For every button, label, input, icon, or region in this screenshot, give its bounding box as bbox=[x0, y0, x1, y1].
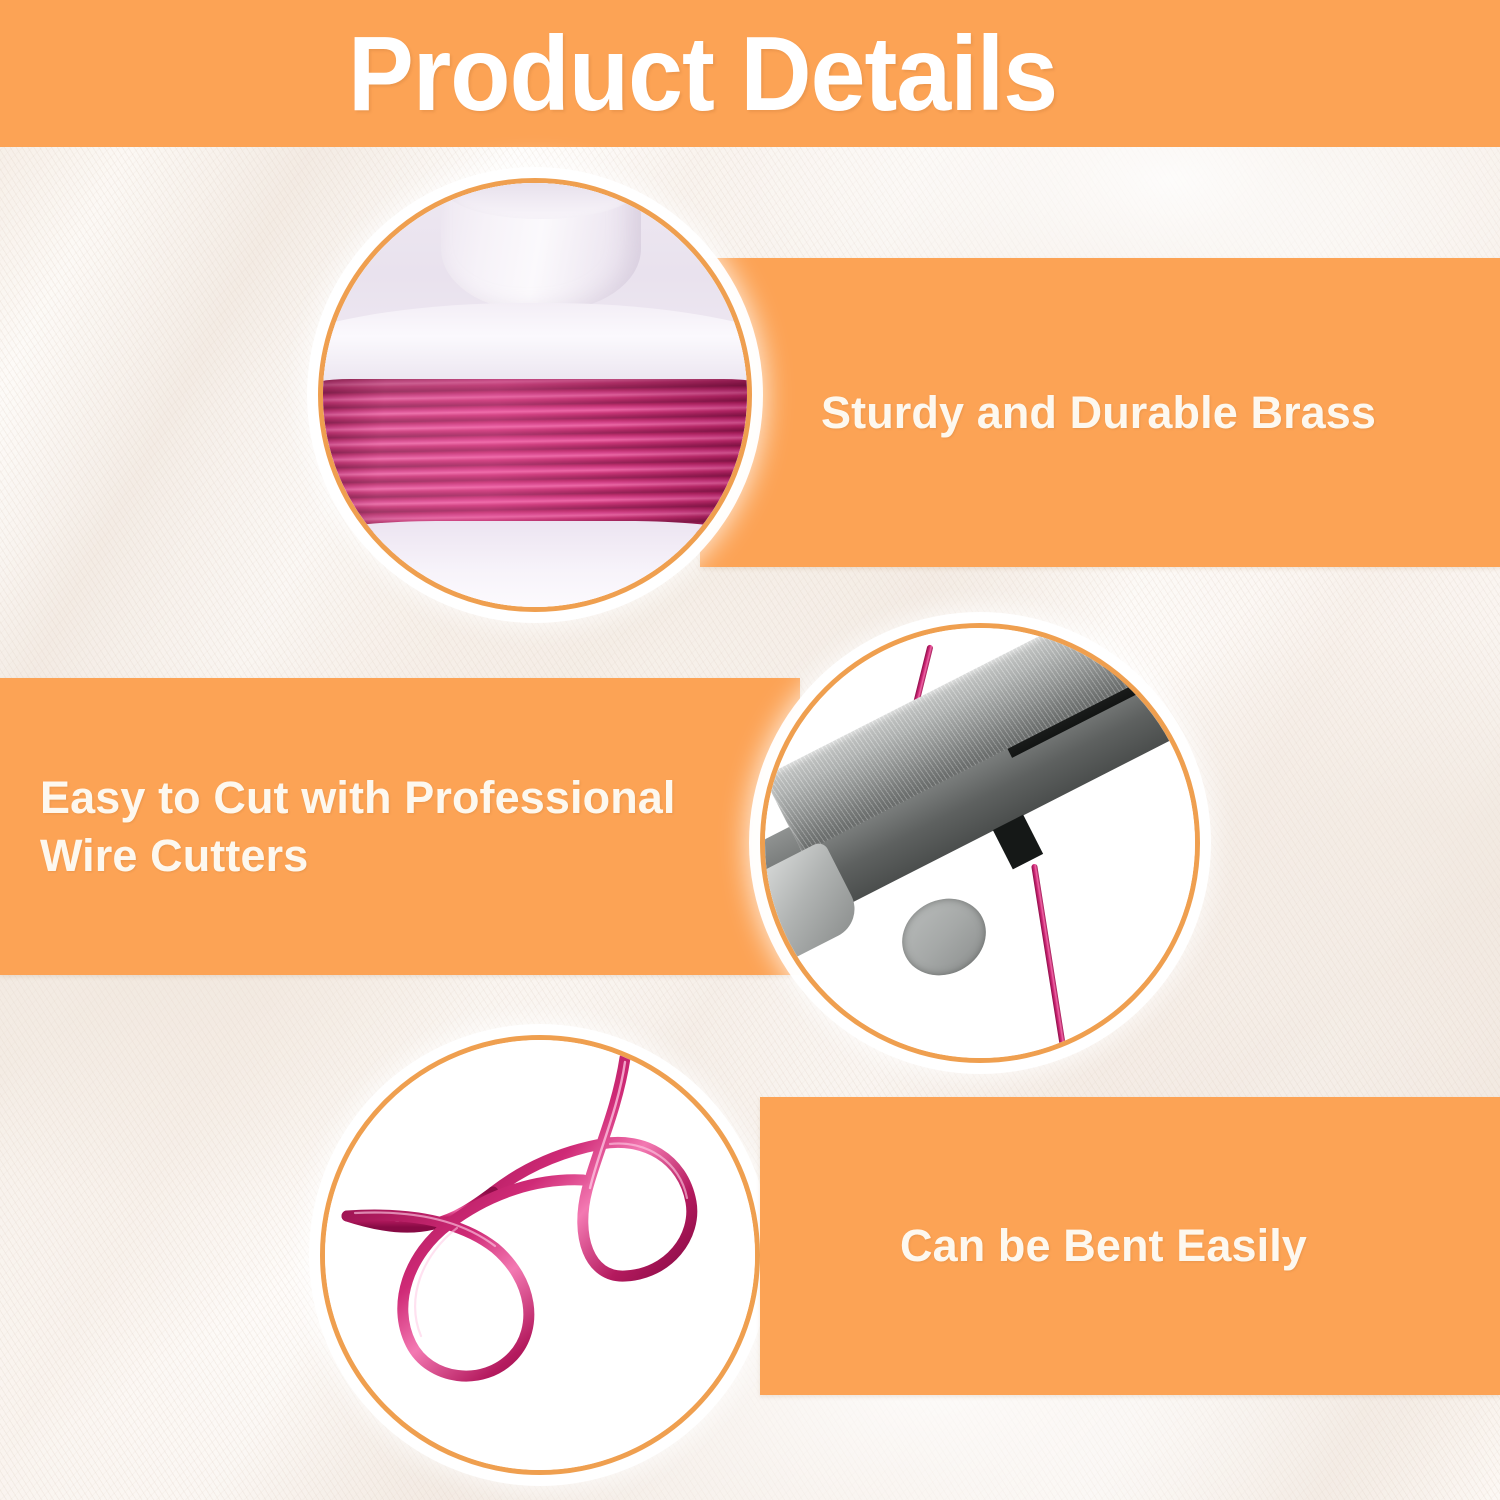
spool-photo bbox=[323, 183, 747, 607]
feature-label-easy-cut: Easy to Cut with Professional Wire Cutte… bbox=[40, 769, 676, 885]
spool-hub bbox=[441, 183, 641, 311]
page-title: Product Details bbox=[348, 21, 1057, 127]
spool-lower-flange bbox=[323, 521, 747, 607]
bent-wire-drawing bbox=[325, 1040, 745, 1460]
feature-image-bent-easily bbox=[320, 1035, 760, 1475]
product-details-infographic: Product Details Sturdy and Durable Brass… bbox=[0, 0, 1500, 1500]
header-banner: Product Details bbox=[0, 0, 1500, 147]
feature-label-bent-easily: Can be Bent Easily bbox=[900, 1217, 1307, 1275]
wire-strand-lower bbox=[1031, 864, 1066, 1051]
feature-band-sturdy-brass: Sturdy and Durable Brass bbox=[700, 258, 1500, 567]
wire-cutter-photo bbox=[765, 628, 1195, 1058]
feature-band-bent-easily: Can be Bent Easily bbox=[760, 1097, 1500, 1395]
cutter-pivot-rivet bbox=[889, 885, 999, 990]
wound-wire-coil bbox=[323, 379, 747, 541]
feature-label-sturdy-brass: Sturdy and Durable Brass bbox=[821, 384, 1376, 442]
bent-wire-photo bbox=[325, 1040, 755, 1470]
feature-image-sturdy-brass bbox=[318, 178, 752, 612]
feature-band-easy-cut: Easy to Cut with Professional Wire Cutte… bbox=[0, 678, 800, 975]
feature-image-easy-cut bbox=[760, 623, 1200, 1063]
